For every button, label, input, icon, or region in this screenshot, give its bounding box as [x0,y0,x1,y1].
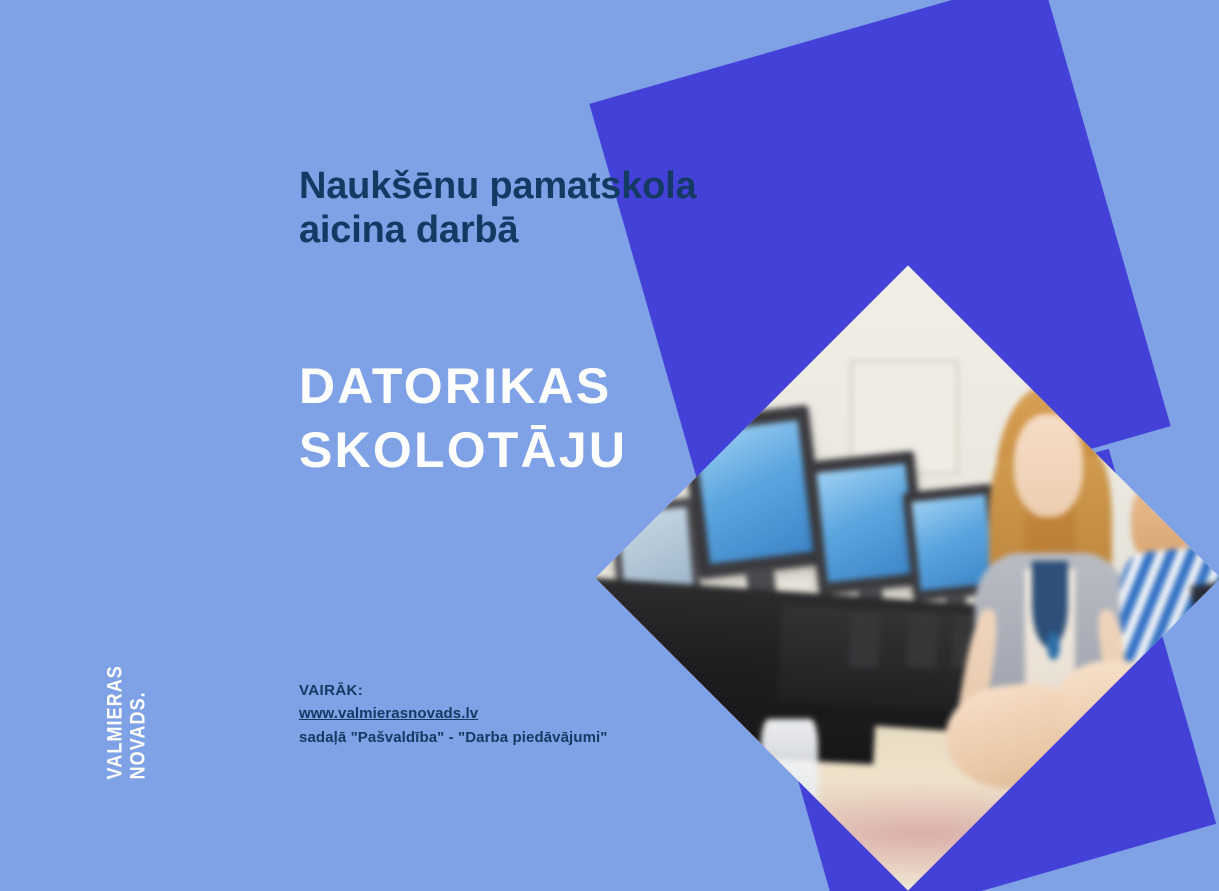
main-title-line-2: SKOLOTĀJU [299,419,819,483]
brand-logo-line-1: VALMIERAS [104,665,127,779]
more-info-label: VAIRĀK: [299,679,819,702]
photo-monitor-screen [618,507,693,591]
brand-logo-line-2: NOVADS. [127,665,150,779]
headline-line-2: aicina darbā [299,208,819,252]
photo-drive-grill-2 [907,616,938,669]
site-section-path: sadaļā "Pašvaldība" - "Darba piedāvājumi… [299,726,819,749]
website-link[interactable]: www.valmierasnovads.lv [299,702,478,725]
brand-logo: VALMIERAS NOVADS. [94,613,160,813]
headline-line-1: Naukšēnu pamatskola [299,164,819,208]
contact-block: VAIRĀK: www.valmierasnovads.lv sadaļā "P… [299,679,819,749]
poster-canvas: Naukšēnu pamatskola aicina darbā DATORIK… [0,0,1219,891]
main-title: DATORIKAS SKOLOTĀJU [299,355,819,482]
brand-logo-stack: VALMIERAS NOVADS. [104,647,149,780]
main-title-line-1: DATORIKAS [299,355,819,419]
photo-drive-grill-1 [849,616,880,669]
website-link-wrapper: www.valmierasnovads.lv [299,702,819,725]
headline: Naukšēnu pamatskola aicina darbā [299,164,819,252]
photo-monitor-screen [816,464,916,583]
